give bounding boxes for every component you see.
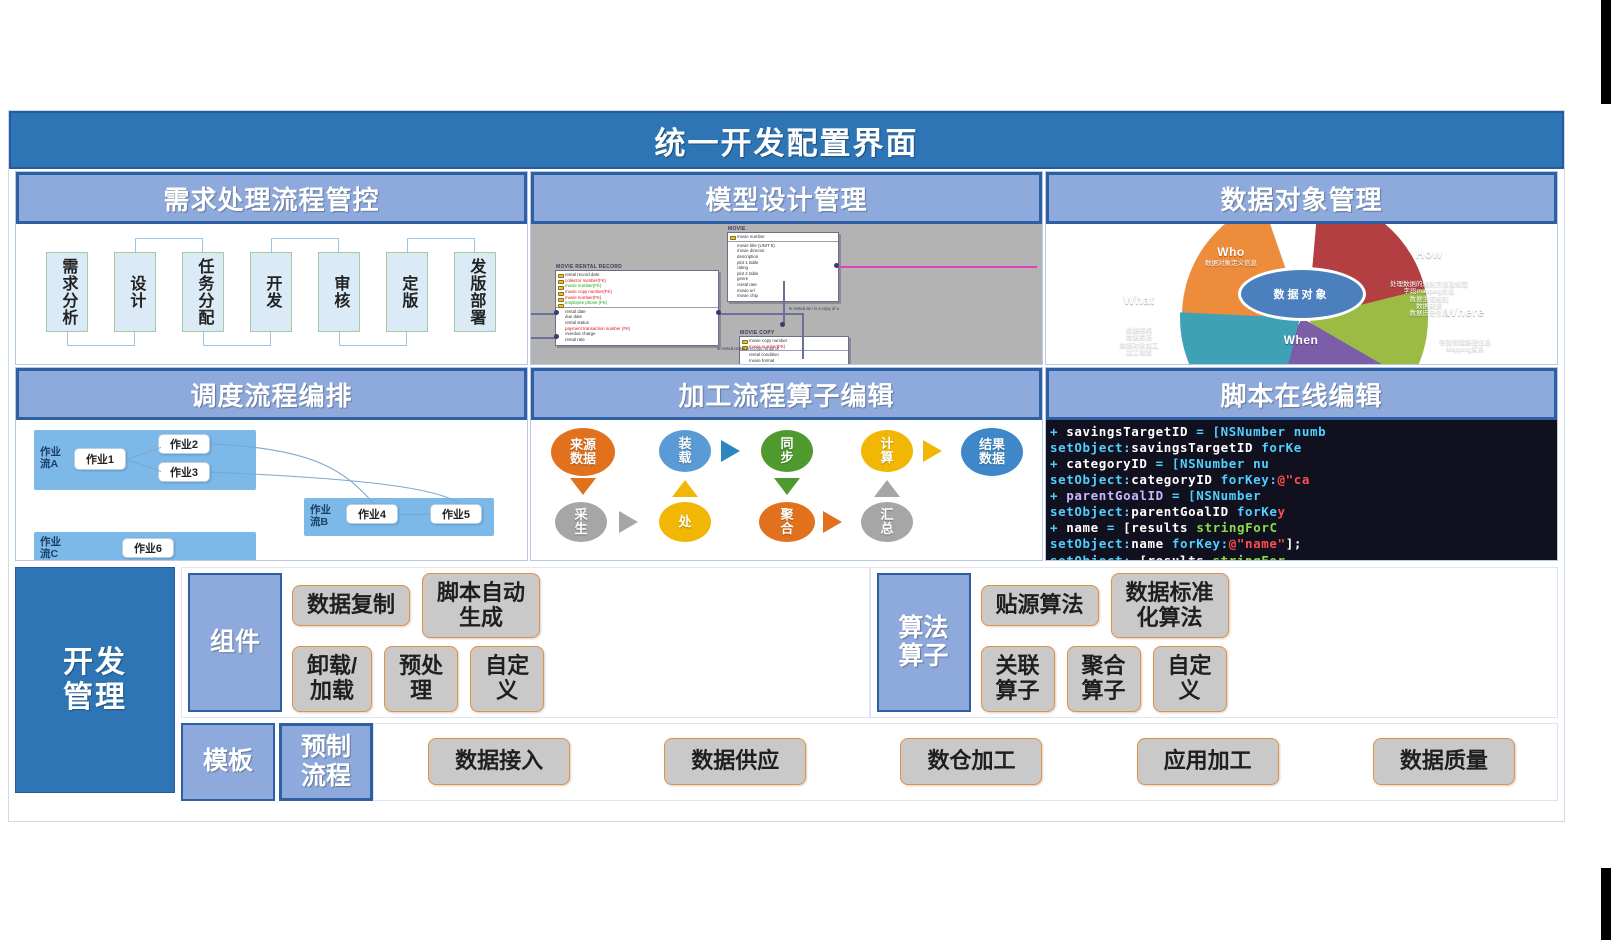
er-dot-1 bbox=[554, 310, 559, 315]
chip-join-operator[interactable]: 关联 算子 bbox=[981, 646, 1055, 711]
process-step-2[interactable]: 设计 bbox=[114, 252, 156, 332]
pie-label-where-cn: 存放物理路径信息 Mapping关系 bbox=[1406, 339, 1524, 354]
pie-label-who-cn: 数据对象定义信息 bbox=[1156, 260, 1306, 267]
arrow-right-aggregate-to-summary bbox=[823, 511, 842, 533]
job-node-1[interactable]: 作业1 bbox=[74, 448, 126, 470]
er-relationship-label-2: is rented under / records rental of bbox=[717, 346, 779, 351]
er-diagram: MOVIE RENTAL RECORD rental record date c… bbox=[531, 224, 1042, 364]
job-flow-label-c: 作业 流C bbox=[40, 536, 61, 560]
pie-label-who-en: Who bbox=[1156, 246, 1306, 260]
operator-node-aggregate[interactable]: 聚 合 bbox=[759, 502, 815, 542]
panel-header-script: 脚本在线编辑 bbox=[1046, 368, 1557, 420]
chips-algorithms: 贴源算法 数据标准 化算法 关联 算子 聚合 算子 自定 义 bbox=[971, 573, 1552, 712]
arrow-right-load-to-sync bbox=[721, 440, 740, 462]
pie-label-when-en: When bbox=[1246, 334, 1356, 348]
arrow-right-compute-to-result bbox=[923, 440, 942, 462]
er-relationship-label-1: is rented as / is a copy of a bbox=[789, 306, 839, 311]
arrow-right-collect-to-process bbox=[619, 511, 638, 533]
panel-body-operator: 来源 数据 采 生 处 装 载 同 步 聚 合 汇 总 计 算 结果 数据 bbox=[531, 420, 1042, 560]
operator-node-source[interactable]: 来源 数据 bbox=[551, 428, 615, 476]
chip-warehouse-etl[interactable]: 数仓加工 bbox=[900, 738, 1042, 785]
arrow-down-source-to-collect bbox=[570, 478, 596, 495]
er-entity-title-1: MOVIE RENTAL RECORD bbox=[556, 264, 622, 270]
er-dot-4 bbox=[780, 322, 785, 327]
dev-group-components: 组件 数据复制 脚本自动 生成 卸载/ 加载 预处 理 自定 义 bbox=[181, 567, 870, 718]
arrow-up-summary-to-compute bbox=[874, 480, 900, 497]
job-flow-group-a[interactable] bbox=[34, 430, 256, 490]
operator-node-result[interactable]: 结果 数据 bbox=[961, 428, 1023, 476]
chip-script-autogen[interactable]: 脚本自动 生成 bbox=[422, 573, 540, 638]
job-node-2[interactable]: 作业2 bbox=[158, 434, 210, 454]
panel-title-requirement: 需求处理流程管控 bbox=[163, 180, 379, 217]
operator-node-load[interactable]: 装 载 bbox=[659, 430, 711, 472]
template-chip-container: 数据接入 数据供应 数仓加工 应用加工 数据质量 bbox=[373, 723, 1558, 801]
job-link-4-5 bbox=[398, 514, 430, 515]
connector-bottom-3 bbox=[339, 332, 407, 346]
panel-title-scheduling: 调度流程编排 bbox=[190, 376, 352, 413]
job-node-5[interactable]: 作业5 bbox=[430, 504, 482, 524]
operator-node-process[interactable]: 处 bbox=[659, 502, 711, 542]
chip-data-ingest[interactable]: 数据接入 bbox=[428, 738, 570, 785]
process-step-5[interactable]: 审核 bbox=[318, 252, 360, 332]
panel-body-script: + savingsTargetID = [NSNumber numb setOb… bbox=[1046, 420, 1557, 560]
connector-top-2 bbox=[271, 238, 339, 252]
pie-label-what: What 数据结构 数据用法 数据对象加工 加工视图 bbox=[1080, 276, 1198, 364]
er-dot-2 bbox=[554, 334, 559, 339]
panel-header-scheduling: 调度流程编排 bbox=[16, 368, 527, 420]
job-node-3[interactable]: 作业3 bbox=[158, 462, 210, 482]
panel-body-dataobject: 数据对象 Who 数据对象定义信息 How 处理数据的规则方法及规范 字段map… bbox=[1046, 224, 1557, 364]
chip-row-algorithms-2: 关联 算子 聚合 算子 自定 义 bbox=[981, 646, 1552, 711]
slide-canvas: 统一开发配置界面 需求处理流程管控 需求分析 设计 任务分配 开发 审核 定版 bbox=[0, 0, 1611, 940]
er-link-mid-down bbox=[802, 313, 804, 359]
process-step-6[interactable]: 定版 bbox=[386, 252, 428, 332]
chip-data-quality[interactable]: 数据质量 bbox=[1373, 738, 1515, 785]
chip-preprocess[interactable]: 预处 理 bbox=[384, 646, 458, 711]
chip-aggregate-operator[interactable]: 聚合 算子 bbox=[1067, 646, 1141, 711]
chip-data-supply[interactable]: 数据供应 bbox=[664, 738, 806, 785]
panel-data-object[interactable]: 数据对象管理 bbox=[1045, 171, 1558, 365]
chip-source-algorithm[interactable]: 贴源算法 bbox=[981, 585, 1099, 626]
chip-data-replication[interactable]: 数据复制 bbox=[292, 585, 410, 626]
panel-scheduling[interactable]: 调度流程编排 作业 流A 作业1 作业2 作业3 作业 流B 作业4 作业5 bbox=[15, 367, 528, 561]
process-step-1[interactable]: 需求分析 bbox=[46, 252, 88, 332]
er-entity-rental-record[interactable]: MOVIE RENTAL RECORD rental record date c… bbox=[555, 270, 719, 346]
connector-bottom-2 bbox=[203, 332, 271, 346]
pie-center-label: 数据对象 bbox=[1274, 286, 1330, 302]
process-step-4[interactable]: 开发 bbox=[250, 252, 292, 332]
job-node-4[interactable]: 作业4 bbox=[346, 504, 398, 524]
panel-title-script: 脚本在线编辑 bbox=[1220, 376, 1382, 413]
dev-band-template: 模板 预制 流程 数据接入 数据供应 数仓加工 应用加工 数据质量 bbox=[181, 723, 1558, 801]
chip-app-etl[interactable]: 应用加工 bbox=[1137, 738, 1279, 785]
er-link-mid bbox=[719, 313, 803, 315]
dev-management-title: 开发 管理 bbox=[15, 567, 175, 793]
pie-label-who: Who 数据对象定义信息 bbox=[1156, 246, 1306, 267]
job-flow-label-b: 作业 流B bbox=[310, 504, 331, 528]
er-link-pink bbox=[837, 266, 1037, 268]
er-link-movie-down bbox=[783, 281, 785, 325]
connector-bottom-1 bbox=[67, 332, 135, 346]
chip-custom-operator[interactable]: 自定 义 bbox=[1153, 646, 1227, 711]
dev-management-content: 组件 数据复制 脚本自动 生成 卸载/ 加载 预处 理 自定 义 bbox=[175, 567, 1558, 793]
master-title-bar: 统一开发配置界面 bbox=[9, 111, 1564, 169]
master-title-text: 统一开发配置界面 bbox=[655, 118, 919, 163]
er-link-left-1 bbox=[531, 313, 557, 315]
panel-script-editor[interactable]: 脚本在线编辑 + savingsTargetID = [NSNumber num… bbox=[1045, 367, 1558, 561]
category-tile-preset-flow[interactable]: 预制 流程 bbox=[279, 723, 373, 801]
panel-title-operator: 加工流程算子编辑 bbox=[678, 376, 894, 413]
chip-standardize-algorithm[interactable]: 数据标准 化算法 bbox=[1111, 573, 1229, 638]
chip-row-components-2: 卸载/ 加载 预处 理 自定 义 bbox=[292, 646, 863, 711]
pie-label-what-cn: 数据结构 数据用法 数据对象加工 加工视图 bbox=[1080, 327, 1198, 357]
panel-body-scheduling: 作业 流A 作业1 作业2 作业3 作业 流B 作业4 作业5 作业 流C 作业… bbox=[16, 420, 527, 560]
pie-label-where-en: Where bbox=[1406, 306, 1524, 320]
chip-row-components-1: 数据复制 脚本自动 生成 bbox=[292, 573, 863, 638]
pie-label-where: Where 存放物理路径信息 Mapping关系 bbox=[1406, 288, 1524, 364]
job-flow-diagram: 作业 流A 作业1 作业2 作业3 作业 流B 作业4 作业5 作业 流C 作业… bbox=[16, 420, 527, 560]
right-edge-bar-bottom bbox=[1601, 868, 1611, 940]
category-tile-algorithms[interactable]: 算法 算子 bbox=[877, 573, 971, 712]
panel-row-1: 需求处理流程管控 需求分析 设计 任务分配 开发 审核 定版 发版部署 bbox=[9, 169, 1564, 365]
unified-dev-config-card: 统一开发配置界面 需求处理流程管控 需求分析 设计 任务分配 开发 审核 定版 bbox=[8, 110, 1565, 822]
pie-label-when: When 日期 时间 控制条件 bbox=[1246, 316, 1356, 364]
data-object-pie-chart: 数据对象 Who 数据对象定义信息 How 处理数据的规则方法及规范 字段map… bbox=[1046, 224, 1557, 364]
operator-node-sync[interactable]: 同 步 bbox=[761, 430, 813, 472]
arrow-down-sync-to-aggregate bbox=[774, 478, 800, 495]
pie-label-what-en: What bbox=[1080, 294, 1198, 308]
connector-top-3 bbox=[407, 238, 475, 252]
operator-node-collect[interactable]: 采 生 bbox=[555, 502, 607, 542]
requirement-flow-diagram: 需求分析 设计 任务分配 开发 审核 定版 发版部署 bbox=[16, 224, 527, 364]
process-step-7[interactable]: 发版部署 bbox=[454, 252, 496, 332]
er-dot-5 bbox=[834, 263, 839, 268]
pie-center-hub: 数据对象 bbox=[1238, 267, 1366, 321]
chip-row-algorithms-1: 贴源算法 数据标准 化算法 bbox=[981, 573, 1552, 638]
pie-label-how-en: How bbox=[1354, 248, 1504, 262]
job-node-6[interactable]: 作业6 bbox=[122, 538, 174, 558]
chip-custom-component[interactable]: 自定 义 bbox=[470, 646, 544, 711]
er-dot-3 bbox=[716, 310, 721, 315]
panel-title-model: 模型设计管理 bbox=[705, 180, 867, 217]
right-edge-bar-top bbox=[1601, 0, 1611, 104]
panel-row-2: 调度流程编排 作业 流A 作业1 作业2 作业3 作业 流B 作业4 作业5 bbox=[9, 365, 1564, 561]
code-editor-surface[interactable]: + savingsTargetID = [NSNumber numb setOb… bbox=[1046, 420, 1557, 560]
er-link-left-2 bbox=[531, 337, 557, 339]
dev-group-algorithms: 算法 算子 贴源算法 数据标准 化算法 关联 算子 聚合 算子 自定 义 bbox=[870, 567, 1559, 718]
er-entity-title-2: MOVIE bbox=[728, 226, 746, 232]
dev-band-top: 组件 数据复制 脚本自动 生成 卸载/ 加载 预处 理 自定 义 bbox=[181, 567, 1558, 718]
panel-requirement-process[interactable]: 需求处理流程管控 需求分析 设计 任务分配 开发 审核 定版 发版部署 bbox=[15, 171, 528, 365]
category-tile-template[interactable]: 模板 bbox=[181, 723, 275, 801]
panel-body-requirement: 需求分析 设计 任务分配 开发 审核 定版 发版部署 bbox=[16, 224, 527, 364]
job-flow-label-a: 作业 流A bbox=[40, 446, 61, 470]
process-step-3[interactable]: 任务分配 bbox=[182, 252, 224, 332]
template-chips: 数据接入 数据供应 数仓加工 应用加工 数据质量 bbox=[380, 738, 1551, 785]
category-tile-components[interactable]: 组件 bbox=[188, 573, 282, 712]
chips-components: 数据复制 脚本自动 生成 卸载/ 加载 预处 理 自定 义 bbox=[282, 573, 863, 712]
arrow-up-process-to-load bbox=[672, 480, 698, 497]
panel-operator-editor[interactable]: 加工流程算子编辑 来源 数据 采 生 处 装 载 同 步 聚 合 汇 总 计 算… bbox=[530, 367, 1043, 561]
panel-title-dataobject: 数据对象管理 bbox=[1220, 180, 1382, 217]
operator-node-summary[interactable]: 汇 总 bbox=[861, 502, 913, 542]
er-entity-title-3: MOVIE COPY bbox=[740, 330, 775, 336]
operator-flow-diagram: 来源 数据 采 生 处 装 载 同 步 聚 合 汇 总 计 算 结果 数据 bbox=[531, 420, 1042, 560]
connector-top-1 bbox=[135, 238, 203, 252]
panel-header-operator: 加工流程算子编辑 bbox=[531, 368, 1042, 420]
panel-body-model: MOVIE RENTAL RECORD rental record date c… bbox=[531, 224, 1042, 364]
dev-management-section: 开发 管理 组件 数据复制 脚本自动 生成 卸载/ 加载 预处 理 bbox=[15, 567, 1558, 793]
chip-unload-load[interactable]: 卸载/ 加载 bbox=[292, 646, 372, 711]
panel-header-dataobject: 数据对象管理 bbox=[1046, 172, 1557, 224]
panel-header-requirement: 需求处理流程管控 bbox=[16, 172, 527, 224]
panel-model-design[interactable]: 模型设计管理 MOVIE RENTAL RECORD rental record… bbox=[530, 171, 1043, 365]
operator-node-compute[interactable]: 计 算 bbox=[861, 430, 913, 472]
panel-header-model: 模型设计管理 bbox=[531, 172, 1042, 224]
